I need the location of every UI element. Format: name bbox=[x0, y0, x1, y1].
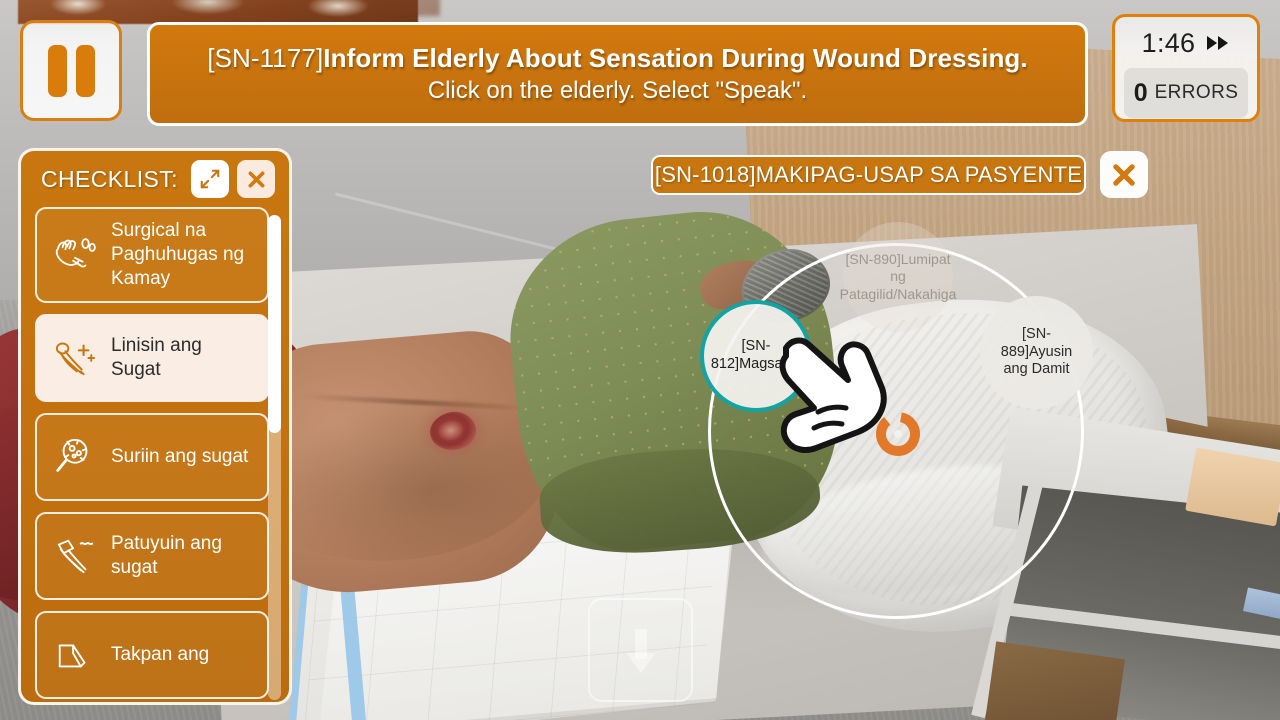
radial-menu-close-icon[interactable] bbox=[1100, 151, 1148, 198]
radial-option-speak[interactable]: [SN-812]Magsalita bbox=[700, 300, 812, 412]
checklist-scrollbar-thumb[interactable] bbox=[268, 215, 281, 433]
checklist-item-label: Patuyuin ang sugat bbox=[111, 532, 255, 580]
checklist-item-clean-wound[interactable]: Linisin ang Sugat bbox=[35, 314, 269, 402]
checklist-header: CHECKLIST: bbox=[21, 151, 289, 207]
checklist-item-label: Linisin ang Sugat bbox=[111, 334, 255, 382]
expand-arrows-icon[interactable] bbox=[191, 160, 229, 198]
download-arrow-icon[interactable] bbox=[588, 598, 693, 702]
radial-option-adjust-clothing[interactable]: [SN-889]Ayusin ang Damit bbox=[980, 296, 1093, 409]
bandage-cover-icon bbox=[49, 629, 101, 681]
handwash-icon bbox=[49, 229, 101, 281]
errors-label: ERRORS bbox=[1155, 82, 1239, 104]
radial-option-reposition[interactable]: [SN-890]Lumipat ng Patagilid/Nakahiga bbox=[843, 222, 953, 332]
checklist-item-label: Suriin ang sugat bbox=[111, 445, 248, 469]
errors-count: 0 bbox=[1134, 79, 1148, 108]
game-screen: [SN-1177]Inform Elderly About Sensation … bbox=[0, 0, 1280, 720]
checklist-item-inspect-wound[interactable]: Suriin ang sugat bbox=[35, 413, 269, 501]
pause-icon-bar-right bbox=[76, 45, 95, 97]
orange-progress-ring bbox=[872, 408, 924, 460]
objective-title-row: [SN-1177]Inform Elderly About Sensation … bbox=[207, 43, 1028, 74]
checklist-panel: CHECKLIST: bbox=[18, 148, 292, 705]
checklist-close-icon[interactable] bbox=[237, 160, 275, 198]
checklist-items[interactable]: Surgical na Paghuhugas ng Kamay bbox=[21, 207, 289, 702]
timer-value: 1:46 bbox=[1142, 28, 1196, 59]
objective-instruction: Click on the elderly. Select "Speak". bbox=[428, 77, 807, 105]
checklist-item-label: Takpan ang bbox=[111, 643, 209, 667]
checklist-title: CHECKLIST: bbox=[41, 166, 183, 193]
magnifier-germ-icon bbox=[49, 431, 101, 483]
checklist-item-dry-wound[interactable]: Patuyuin ang sugat bbox=[35, 512, 269, 600]
radial-menu-title: [SN-1018]MAKIPAG-USAP SA PASYENTE bbox=[651, 155, 1086, 195]
swab-sparkle-icon bbox=[49, 332, 101, 384]
fast-forward-icon[interactable] bbox=[1206, 35, 1230, 51]
pause-button[interactable] bbox=[20, 20, 122, 121]
errors-badge: 0 ERRORS bbox=[1124, 68, 1248, 118]
timer-row: 1:46 bbox=[1142, 22, 1231, 64]
pause-icon-bar-left bbox=[48, 45, 67, 97]
checklist-scrollbar-track[interactable] bbox=[268, 215, 281, 700]
checklist-item-label: Surgical na Paghuhugas ng Kamay bbox=[111, 219, 255, 291]
timer-panel: 1:46 0 ERRORS bbox=[1112, 14, 1260, 122]
objective-banner: [SN-1177]Inform Elderly About Sensation … bbox=[147, 22, 1088, 126]
objective-title: Inform Elderly About Sensation During Wo… bbox=[323, 43, 1027, 73]
gauze-dry-icon bbox=[49, 530, 101, 582]
objective-id: [SN-1177] bbox=[207, 43, 323, 73]
checklist-item-cover-wound[interactable]: Takpan ang bbox=[35, 611, 269, 699]
checklist-item-handwash[interactable]: Surgical na Paghuhugas ng Kamay bbox=[35, 207, 269, 303]
